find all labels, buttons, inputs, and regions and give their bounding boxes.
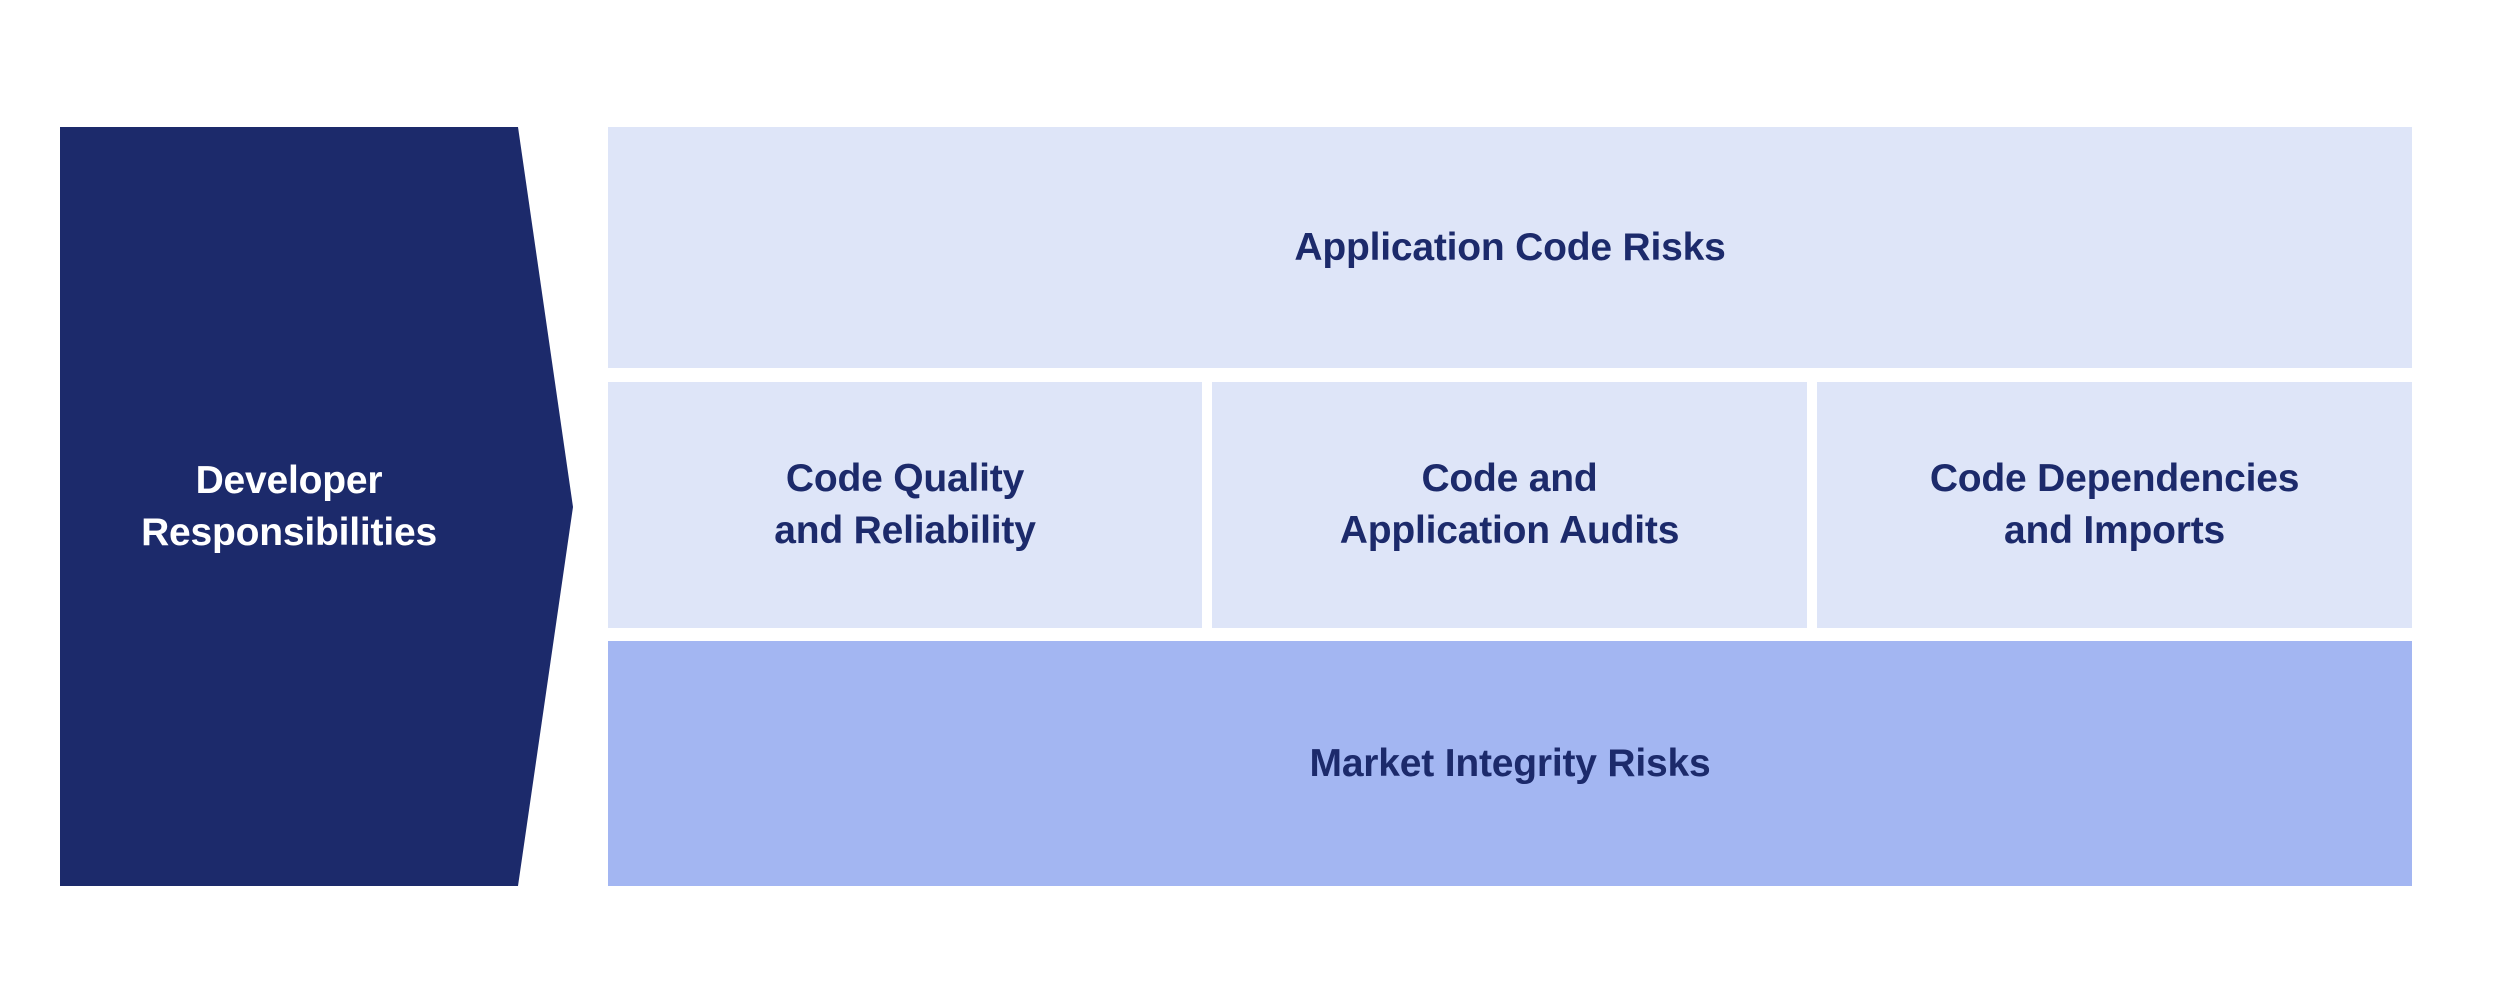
panel-market-integrity-risks-label: Market Integrity Risks [1310, 738, 1711, 790]
panel-code-dependencies-and-imports[interactable]: Code Dependencies and Imports [1817, 382, 2412, 628]
panel-code-and-application-audits[interactable]: Code and Application Audits [1212, 382, 1807, 628]
panel-code-dependencies-and-imports-label: Code Dependencies and Imports [1930, 453, 2299, 557]
panel-market-integrity-risks[interactable]: Market Integrity Risks [608, 641, 2412, 886]
panel-code-and-application-audits-label: Code and Application Audits [1340, 453, 1679, 557]
panel-application-code-risks-label: Application Code Risks [1294, 222, 1725, 274]
developer-responsibilities-chevron-shape [60, 127, 573, 886]
chevron-polygon [60, 127, 573, 886]
panel-application-code-risks[interactable]: Application Code Risks [608, 127, 2412, 368]
diagram-canvas: Developer Responsibilities Application C… [0, 0, 2500, 996]
panel-code-quality-and-reliability-label: Code Quality and Reliability [774, 453, 1035, 557]
panel-code-quality-and-reliability[interactable]: Code Quality and Reliability [608, 382, 1202, 628]
